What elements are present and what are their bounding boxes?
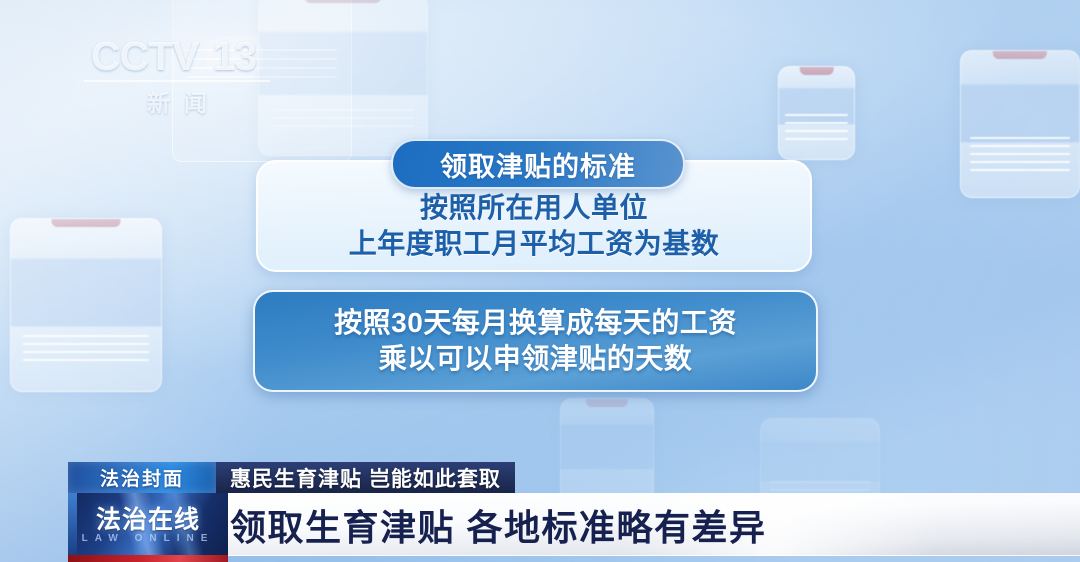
infographic-title-text: 领取津贴的标准 — [440, 145, 636, 184]
lower-third-main-row: 领取生育津贴 各地标准略有差异 法治在线 LAW ONLINE — [0, 493, 1080, 562]
document-decoration-center-top — [258, 0, 428, 156]
info-card-light-line-2: 上年度职工月平均工资为基数 — [349, 226, 720, 262]
document-decoration-right-small — [778, 66, 855, 160]
info-card-blue-line-1: 按照30天每月换算成每天的工资 — [334, 305, 737, 341]
lower-third: 法治封面 惠民生育津贴 岂能如此套取 领取生育津贴 各地标准略有差异 法治在线 … — [0, 462, 1080, 562]
info-card-light-line-1: 按照所在用人单位 — [420, 190, 648, 226]
document-decoration-left — [10, 218, 162, 392]
document-lines — [785, 114, 848, 146]
info-card-blue-line-2: 乘以可以申领津贴的天数 — [379, 341, 693, 377]
clipboard-clip-icon — [304, 0, 381, 3]
document-lines — [23, 335, 149, 367]
kicker-text: 法治封面 — [100, 464, 184, 491]
program-logo-english: LAW ONLINE — [68, 533, 228, 544]
subheadline-text: 惠民生育津贴 岂能如此套取 — [230, 463, 501, 493]
broadcast-screen: CCTV13 新闻 按照所在用人单位 上年度职工月平均工资为基数 领取津贴的标准… — [0, 0, 1080, 562]
document-lines — [970, 137, 1069, 177]
clipboard-clip-icon — [799, 66, 834, 75]
program-logo-red-bar — [68, 555, 228, 562]
program-logo-chinese: 法治在线 — [68, 500, 228, 536]
program-logo: 法治在线 LAW ONLINE — [68, 493, 228, 562]
info-card-blue: 按照30天每月换算成每天的工资 乘以可以申领津贴的天数 — [253, 290, 818, 392]
document-decoration-right-large — [960, 50, 1080, 198]
clipboard-clip-icon — [52, 218, 121, 227]
headline-text: 领取生育津贴 各地标准略有差异 — [230, 499, 767, 551]
infographic-title-pill: 领取津贴的标准 — [391, 139, 685, 189]
clipboard-clip-icon — [993, 50, 1047, 59]
kicker-badge: 法治封面 — [68, 462, 216, 493]
clipboard-clip-icon — [586, 398, 628, 407]
subheadline-banner: 惠民生育津贴 岂能如此套取 — [216, 462, 515, 493]
lower-third-top-row: 法治封面 惠民生育津贴 岂能如此套取 — [68, 462, 515, 493]
document-lines — [272, 109, 413, 133]
